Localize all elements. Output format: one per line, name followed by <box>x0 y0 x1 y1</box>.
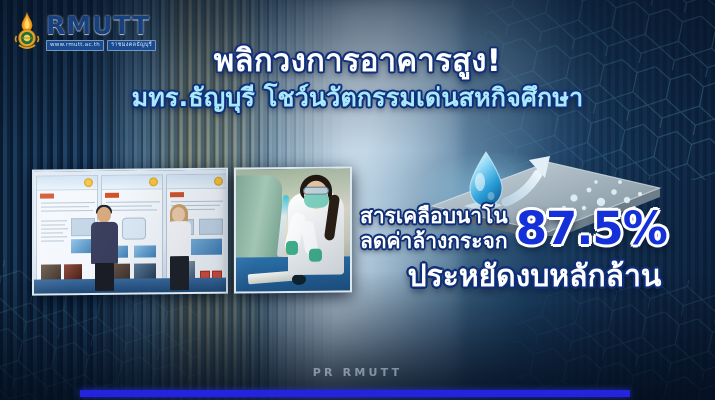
headline: พลิกวงการอาคารสูง! มทร.ธัญบุรี โชว์นวัตก… <box>0 44 715 112</box>
safety-goggles-icon <box>303 187 329 195</box>
face-mask-icon <box>304 195 329 208</box>
student-male-figure <box>86 207 122 291</box>
photo-poster-presentation[interactable] <box>32 168 228 296</box>
pr-watermark: PR RMUTT <box>0 366 715 379</box>
promo-poster: RMUTT www.rmutt.ac.th ราชมงคลธัญบุรี พลิ… <box>0 0 715 400</box>
hex-mesh-bottom-right-icon <box>515 280 715 400</box>
glove-icon <box>309 249 322 262</box>
lab-tank <box>234 175 282 262</box>
photo-collage <box>32 166 352 295</box>
headline-line-1: พลิกวงการอาคารสูง! <box>0 44 715 79</box>
booth-floor <box>34 278 226 294</box>
student-female-figure <box>162 206 196 290</box>
glove-icon <box>286 241 298 255</box>
logo-wordmark: RMUTT <box>46 13 156 38</box>
percent-figure: 87.5% <box>516 208 667 251</box>
claim-top-row: สารเคลือบนาโน ลดค่าล้างกระจก 87.5% <box>360 205 709 253</box>
claim-line-3: ประหยัดงบหลักล้าน <box>360 260 709 293</box>
lab-drain <box>292 274 306 285</box>
headline-line-2: มทร.ธัญบุรี โชว์นวัตกรรมเด่นสหกิจศึกษา <box>0 84 715 113</box>
claim-line-1: สารเคลือบนาโน <box>360 205 508 229</box>
claim-line-2: ลดค่าล้างกระจก <box>360 230 508 254</box>
accent-bar <box>80 390 630 397</box>
claim-block: สารเคลือบนาโน ลดค่าล้างกระจก 87.5% ประหย… <box>360 205 709 293</box>
photo-lab-researcher[interactable] <box>234 166 352 293</box>
